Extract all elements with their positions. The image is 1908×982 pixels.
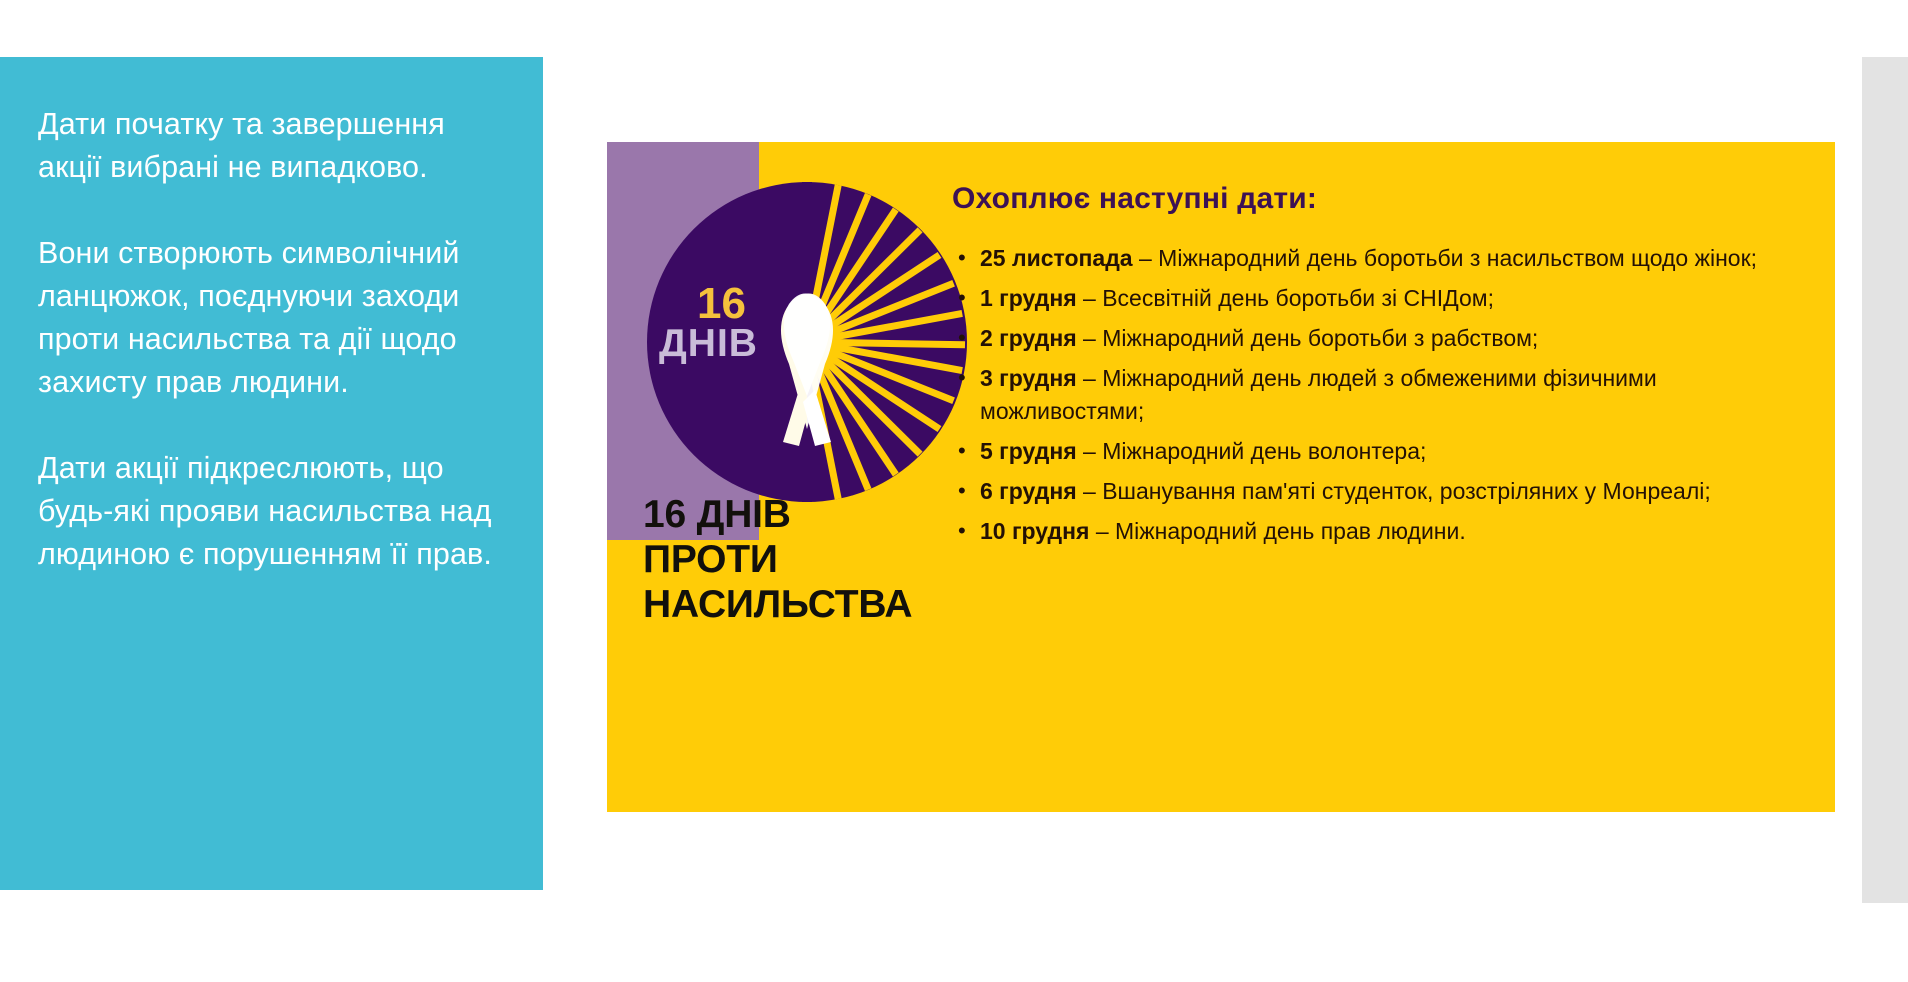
dates-heading: Охоплює наступні дати:: [952, 182, 1792, 216]
dates-column: Охоплює наступні дати: 25 листопада – Мі…: [952, 182, 1792, 555]
date-label: 6 грудня: [980, 478, 1077, 504]
date-label: 1 грудня: [980, 285, 1077, 311]
campaign-logo: 16 ДНІВ: [629, 164, 989, 520]
date-label: 10 грудня: [980, 518, 1089, 544]
list-item: 5 грудня – Міжнародний день волонтера;: [952, 435, 1792, 468]
date-description: – Міжнародний день волонтера;: [1077, 438, 1427, 464]
right-side-panel: [1862, 57, 1908, 903]
list-item: 2 грудня – Міжнародний день боротьби з р…: [952, 322, 1792, 355]
date-description: – Всесвітній день боротьби зі СНІДом;: [1077, 285, 1494, 311]
list-item: 10 грудня – Міжнародний день прав людини…: [952, 515, 1792, 548]
date-description: – Міжнародний день прав людини.: [1089, 518, 1465, 544]
logo-word: ДНІВ: [659, 324, 758, 363]
date-label: 2 грудня: [980, 325, 1077, 351]
date-description: – Міжнародний день людей з обмеженими фі…: [980, 365, 1657, 424]
date-description: – Міжнародний день боротьби з рабством;: [1077, 325, 1539, 351]
date-description: – Вшанування пам'яті студенток, розстріл…: [1077, 478, 1711, 504]
date-description: – Міжнародний день боротьби з насильство…: [1133, 245, 1757, 271]
date-label: 5 грудня: [980, 438, 1077, 464]
paragraph-1: Дати початку та завершення акції вибрані…: [38, 103, 513, 189]
logo-number: 16: [697, 282, 746, 326]
infographic-card: 16 ДНІВ 16 ДНІВ ПРОТИ НАСИЛЬСТВА Охоплює…: [607, 142, 1835, 812]
dates-list: 25 листопада – Міжнародний день боротьби…: [952, 242, 1792, 548]
date-label: 25 листопада: [980, 245, 1133, 271]
paragraph-2: Вони створюють символічний ланцюжок, поє…: [38, 232, 513, 404]
list-item: 3 грудня – Міжнародний день людей з обме…: [952, 362, 1792, 428]
list-item: 1 грудня – Всесвітній день боротьби зі С…: [952, 282, 1792, 315]
date-label: 3 грудня: [980, 365, 1077, 391]
list-item: 6 грудня – Вшанування пам'яті студенток,…: [952, 475, 1792, 508]
paragraph-3: Дати акції підкреслюють, що будь-які про…: [38, 447, 513, 576]
list-item: 25 листопада – Міжнародний день боротьби…: [952, 242, 1792, 275]
left-text-panel: Дати початку та завершення акції вибрані…: [0, 57, 543, 890]
